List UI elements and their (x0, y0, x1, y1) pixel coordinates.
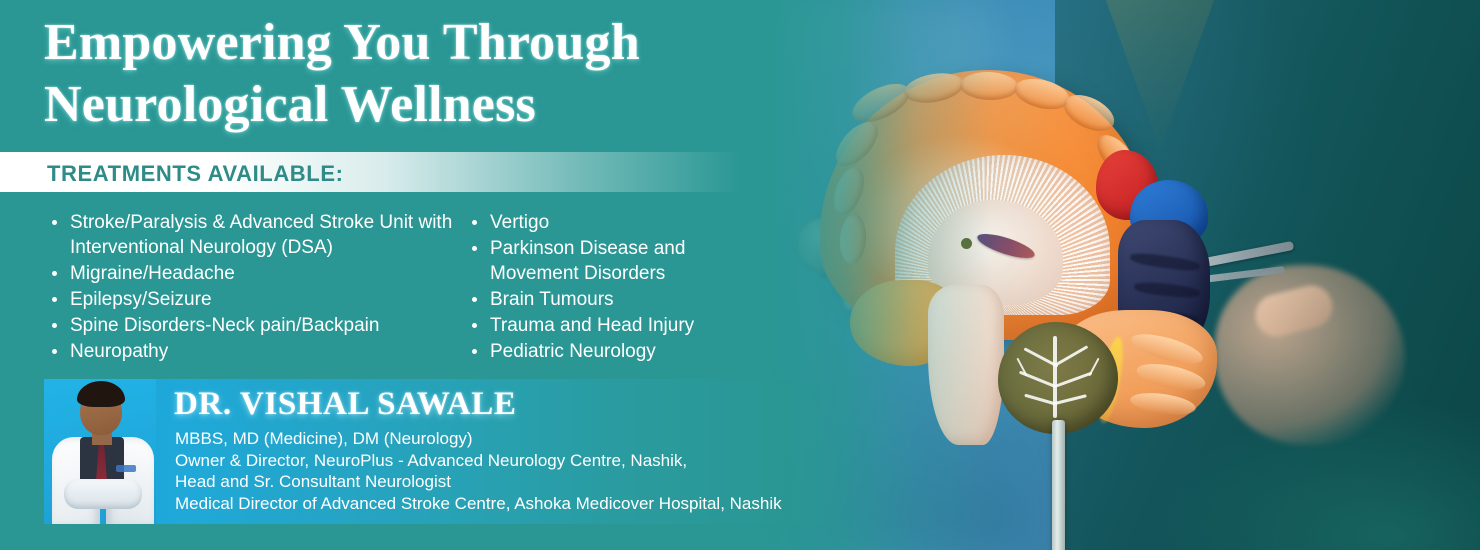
treatments-list-left: Stroke/Paralysis & Advanced Stroke Unit … (46, 210, 466, 365)
arbor-vitae-branch (1056, 345, 1089, 366)
arbor-vitae-branch (1056, 372, 1093, 388)
treatments-heading: TREATMENTS AVAILABLE: (47, 161, 344, 187)
brainstem (928, 285, 1004, 445)
credential-line-4: Medical Director of Advanced Stroke Cent… (175, 493, 875, 515)
credential-line-1: MBBS, MD (Medicine), DM (Neurology) (175, 428, 875, 450)
nucleus-marker (961, 238, 972, 249)
credential-line-2: Owner & Director, NeuroPlus - Advanced N… (175, 450, 875, 472)
credential-line-3: Head and Sr. Consultant Neurologist (175, 471, 875, 493)
headline-line-1: Empowering You Through (44, 12, 764, 74)
list-item: Migraine/Headache (46, 261, 466, 286)
neurology-promo-banner: Sc 1 TIR/M SI 13 AP 6 post Sc 6 TIR/M SI… (0, 0, 1480, 550)
coat-logo-badge (116, 465, 136, 472)
list-item: Stroke/Paralysis & Advanced Stroke Unit … (46, 210, 466, 260)
arbor-vitae-twig (1088, 358, 1099, 377)
arbor-vitae-branch (1055, 394, 1087, 405)
list-item: Trauma and Head Injury (466, 313, 766, 338)
list-item: Brain Tumours (466, 287, 766, 312)
cerebellum (998, 322, 1118, 434)
doctor-name: DR. VISHAL SAWALE (174, 386, 516, 423)
list-item: Epilepsy/Seizure (46, 287, 466, 312)
arbor-vitae-branch (1024, 394, 1056, 406)
doctor-credentials: MBBS, MD (Medicine), DM (Neurology) Owne… (175, 428, 875, 514)
model-support-rod (1052, 420, 1065, 550)
headline-line-2: Neurological Wellness (44, 74, 764, 136)
treatments-list-right: Vertigo Parkinson Disease and Movement D… (466, 210, 766, 365)
arbor-vitae-trunk (1053, 336, 1057, 418)
anatomical-brain-model (800, 60, 1230, 480)
list-item: Spine Disorders-Neck pain/Backpain (46, 313, 466, 338)
doctor-portrait-photo (44, 379, 156, 524)
list-item: Neuropathy (46, 339, 466, 364)
list-item: Parkinson Disease and Movement Disorders (466, 236, 766, 286)
page-title: Empowering You Through Neurological Well… (44, 12, 764, 136)
crossed-arms (64, 479, 142, 509)
list-item: Vertigo (466, 210, 766, 235)
list-item: Pediatric Neurology (466, 339, 766, 364)
